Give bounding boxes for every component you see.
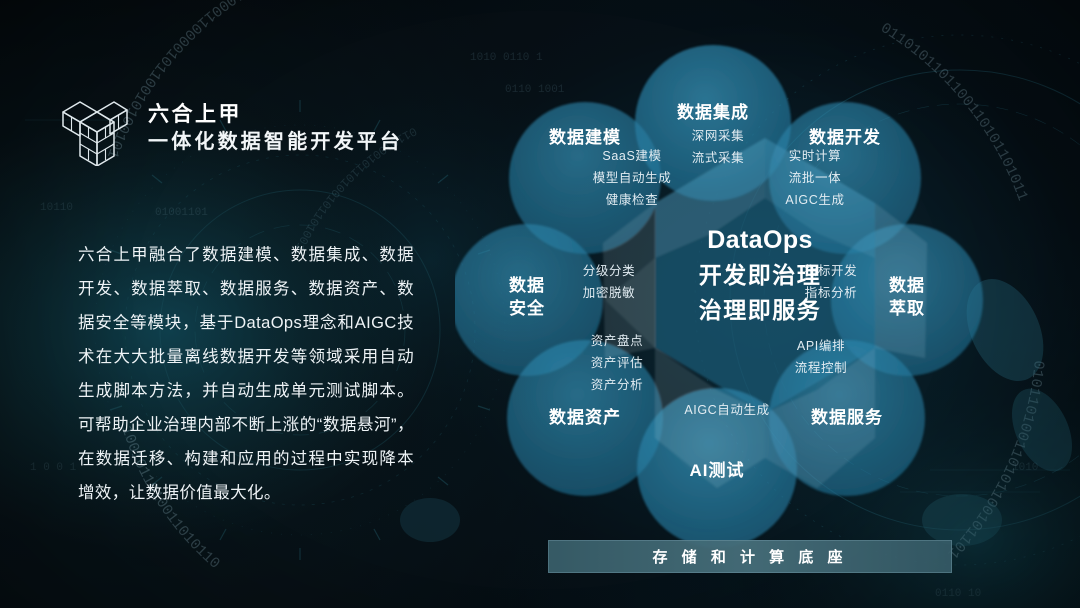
brand-name: 六合上甲 [148,103,403,126]
sub-item: API编排 [797,338,845,355]
brand-row: 六合上甲 一体化数据智能开发平台 [58,88,430,168]
base-bar-label: 存 储 和 计 算 底 座 [652,546,847,567]
slide-canvas: 01100011000010110010100101 0110101101100… [0,0,1080,608]
brand-text: 六合上甲 一体化数据智能开发平台 [148,103,403,153]
sub-item: SaaS建模 [602,148,661,165]
brand-panel: 六合上甲 一体化数据智能开发平台 [58,88,430,168]
sub-item: 流批一体 [789,170,841,187]
sub-item: 实时计算 [789,148,841,165]
sub-item: AIGC生成 [785,192,844,209]
storage-compute-base-bar[interactable]: 存 储 和 计 算 底 座 [548,540,952,573]
sub-item: 资产盘点 [591,333,643,350]
description-paragraph: 六合上甲融合了数据建模、数据集成、数据开发、数据萃取、数据服务、数据资产、数据安… [78,238,414,510]
svg-text:10110: 10110 [40,202,73,214]
sub-item: 流程控制 [795,360,847,377]
sub-item: 分级分类 [583,263,635,280]
sub-item: 加密脱敏 [583,285,635,302]
integration-subs: 深网采集 流式采集 [670,128,766,167]
sub-item: AIGC自动生成 [684,402,769,419]
svg-text:1 0 0 1: 1 0 0 1 [30,462,77,474]
testing-subs: AIGC自动生成 [667,402,787,419]
center-line-2: 开发即治理 [635,258,885,293]
assets-subs: 资产盘点 资产评估 资产分析 [567,333,667,394]
sub-item: 深网采集 [692,128,744,145]
brand-subtitle: 一体化数据智能开发平台 [148,131,403,153]
sub-item: 流式采集 [692,150,744,167]
service-subs: API编排 流程控制 [773,338,869,377]
center-line-1: DataOps [635,223,885,258]
sub-item: 资产分析 [591,377,643,394]
sub-item: 健康检查 [606,192,658,209]
svg-text:0110 10: 0110 10 [935,588,981,600]
svg-text:01001101: 01001101 [155,207,208,219]
isometric-brick-cube-icon [58,90,132,166]
sub-item: 模型自动生成 [593,170,672,187]
dataops-venn-diagram: 数据集成 数据建模 数据开发 数据 安全 数据 萃取 数据资产 数据服务 AI测… [455,18,1080,558]
sub-item: 资产评估 [591,355,643,372]
center-line-3: 治理即服务 [635,293,885,328]
center-label: DataOps 开发即治理 治理即服务 [635,223,885,328]
development-subs: 实时计算 流批一体 AIGC生成 [767,148,863,209]
